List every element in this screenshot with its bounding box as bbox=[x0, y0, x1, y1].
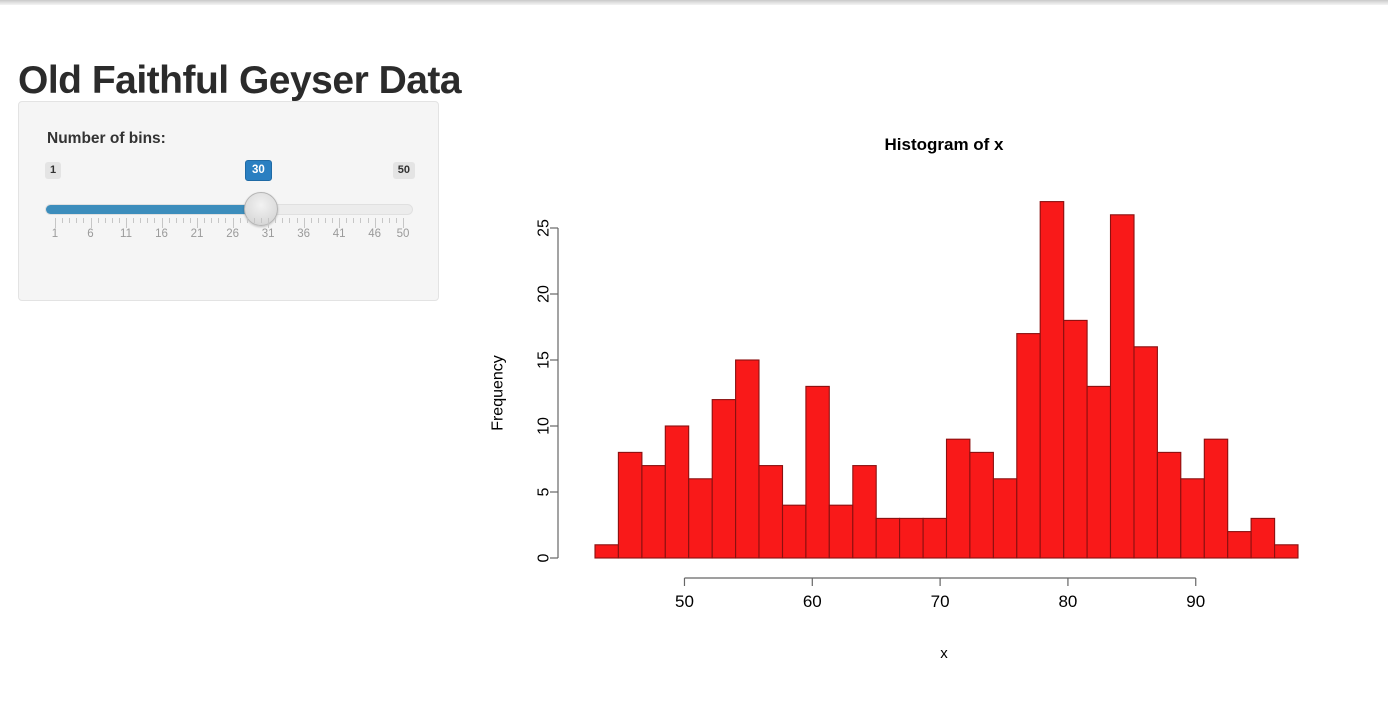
slider-tick-major bbox=[126, 218, 127, 228]
slider-tick-minor bbox=[133, 218, 134, 223]
slider-tick-label: 50 bbox=[397, 228, 410, 240]
histogram-bar bbox=[876, 518, 899, 558]
histogram-bar bbox=[1275, 545, 1298, 558]
slider-tick-minor bbox=[318, 218, 319, 223]
x-tick-label: 70 bbox=[931, 592, 950, 611]
slider-tick-major bbox=[197, 218, 198, 228]
histogram-bar bbox=[1134, 347, 1157, 558]
slider-min-label: 1 bbox=[45, 162, 61, 179]
slider-tick-label: 36 bbox=[297, 228, 310, 240]
histogram-bar bbox=[1251, 518, 1275, 558]
histogram-bar bbox=[923, 518, 946, 558]
histogram-bar bbox=[642, 466, 665, 558]
x-tick-label: 90 bbox=[1186, 592, 1205, 611]
slider-tick-major bbox=[268, 218, 269, 228]
histogram-bar bbox=[1110, 215, 1134, 558]
histogram-bar bbox=[1064, 320, 1087, 558]
slider-tick-major bbox=[55, 218, 56, 228]
histogram-plot-panel: Histogram of x0510152025Frequency5060708… bbox=[460, 101, 1370, 681]
x-tick-label: 50 bbox=[675, 592, 694, 611]
slider-tick-major bbox=[375, 218, 376, 228]
histogram-bar bbox=[853, 466, 876, 558]
slider-tick-minor bbox=[76, 218, 77, 223]
slider-tick-minor bbox=[261, 218, 262, 223]
slider-tick-major bbox=[162, 218, 163, 228]
histogram-bar bbox=[947, 439, 970, 558]
slider-tick-major bbox=[91, 218, 92, 228]
slider-tick-major bbox=[233, 218, 234, 228]
histogram-bar bbox=[712, 400, 735, 558]
slider-tick-minor bbox=[154, 218, 155, 223]
slider-track[interactable] bbox=[45, 204, 413, 215]
y-tick-label: 0 bbox=[536, 553, 553, 562]
slider-tick-minor bbox=[346, 218, 347, 223]
slider-tick-minor bbox=[254, 218, 255, 223]
histogram-bar bbox=[689, 479, 713, 558]
y-tick-label: 15 bbox=[536, 351, 553, 369]
histogram-bar bbox=[829, 505, 853, 558]
slider-tick-label: 6 bbox=[87, 228, 93, 240]
bins-slider[interactable]: 1 50 30 16111621263136414650 bbox=[45, 162, 415, 252]
slider-tick-minor bbox=[360, 218, 361, 223]
slider-tick-minor bbox=[183, 218, 184, 223]
slider-tick-minor bbox=[289, 218, 290, 223]
histogram-bar bbox=[759, 466, 783, 558]
slider-tick-minor bbox=[389, 218, 390, 223]
slider-tick-minor bbox=[311, 218, 312, 223]
slider-tick-minor bbox=[325, 218, 326, 223]
slider-tick-minor bbox=[211, 218, 212, 223]
x-axis-label: x bbox=[940, 645, 948, 662]
slider-tick-minor bbox=[240, 218, 241, 223]
sidebar-panel: Number of bins: 1 50 30 1611162126313641… bbox=[18, 101, 439, 301]
slider-tick-major bbox=[304, 218, 305, 228]
histogram-bar bbox=[783, 505, 806, 558]
slider-tick-minor bbox=[190, 218, 191, 223]
histogram-bar bbox=[806, 386, 829, 558]
histogram-bar bbox=[736, 360, 759, 558]
histogram-bar bbox=[1087, 386, 1110, 558]
histogram-bar bbox=[1017, 334, 1040, 558]
y-tick-label: 20 bbox=[536, 285, 553, 303]
slider-tick-minor bbox=[176, 218, 177, 223]
slider-tick-minor bbox=[83, 218, 84, 223]
slider-tick-label: 26 bbox=[226, 228, 239, 240]
histogram-bar bbox=[1228, 532, 1251, 558]
histogram-bar bbox=[970, 452, 994, 558]
slider-tick-minor bbox=[275, 218, 276, 223]
y-tick-label: 10 bbox=[536, 417, 553, 435]
slider-tick-marks bbox=[45, 218, 413, 228]
slider-tick-minor bbox=[204, 218, 205, 223]
histogram-bar bbox=[595, 545, 618, 558]
slider-tick-label: 21 bbox=[191, 228, 204, 240]
slider-tick-minor bbox=[112, 218, 113, 223]
slider-tick-minor bbox=[169, 218, 170, 223]
slider-tick-major bbox=[403, 218, 404, 228]
slider-tick-minor bbox=[382, 218, 383, 223]
histogram-bars bbox=[595, 202, 1298, 558]
slider-tick-minor bbox=[98, 218, 99, 223]
slider-value-badge: 30 bbox=[245, 160, 272, 181]
chart-title: Histogram of x bbox=[884, 135, 1004, 154]
y-tick-label: 25 bbox=[536, 219, 553, 237]
histogram-bar bbox=[665, 426, 688, 558]
x-tick-label: 80 bbox=[1058, 592, 1077, 611]
histogram-bar bbox=[900, 518, 924, 558]
slider-tick-minor bbox=[368, 218, 369, 223]
slider-tick-minor bbox=[62, 218, 63, 223]
slider-tick-label: 1 bbox=[52, 228, 58, 240]
slider-tick-minor bbox=[297, 218, 298, 223]
x-axis: 5060708090x bbox=[675, 578, 1205, 662]
x-tick-label: 60 bbox=[803, 592, 822, 611]
slider-tick-label: 31 bbox=[262, 228, 275, 240]
slider-tick-minor bbox=[247, 218, 248, 223]
slider-tick-minor bbox=[225, 218, 226, 223]
page-title: Old Faithful Geyser Data bbox=[18, 58, 461, 104]
slider-tick-minor bbox=[282, 218, 283, 223]
y-tick-label: 5 bbox=[536, 487, 553, 496]
slider-tick-label: 41 bbox=[333, 228, 346, 240]
slider-tick-major bbox=[339, 218, 340, 228]
slider-tick-minor bbox=[332, 218, 333, 223]
slider-tick-label: 11 bbox=[120, 228, 132, 240]
slider-tick-minor bbox=[105, 218, 106, 223]
bins-label: Number of bins: bbox=[47, 130, 166, 148]
slider-tick-minor bbox=[147, 218, 148, 223]
slider-tick-minor bbox=[140, 218, 141, 223]
slider-tick-labels: 16111621263136414650 bbox=[45, 228, 413, 244]
slider-tick-label: 46 bbox=[368, 228, 381, 240]
shiny-app-root: Old Faithful Geyser Data Number of bins:… bbox=[0, 5, 1388, 707]
histogram-plot: Histogram of x0510152025Frequency5060708… bbox=[460, 101, 1370, 681]
slider-tick-minor bbox=[353, 218, 354, 223]
slider-tick-minor bbox=[218, 218, 219, 223]
slider-tick-minor bbox=[396, 218, 397, 223]
y-axis-label: Frequency bbox=[490, 355, 507, 431]
y-axis: 0510152025Frequency bbox=[490, 219, 559, 562]
slider-max-label: 50 bbox=[393, 162, 415, 179]
slider-fill bbox=[46, 205, 262, 214]
histogram-bar bbox=[1157, 452, 1180, 558]
slider-tick-minor bbox=[119, 218, 120, 223]
histogram-bar bbox=[618, 452, 642, 558]
histogram-bar bbox=[1181, 479, 1205, 558]
histogram-bar bbox=[1204, 439, 1227, 558]
histogram-bar bbox=[1040, 202, 1064, 558]
slider-tick-label: 16 bbox=[155, 228, 168, 240]
histogram-bar bbox=[993, 479, 1016, 558]
slider-tick-minor bbox=[69, 218, 70, 223]
